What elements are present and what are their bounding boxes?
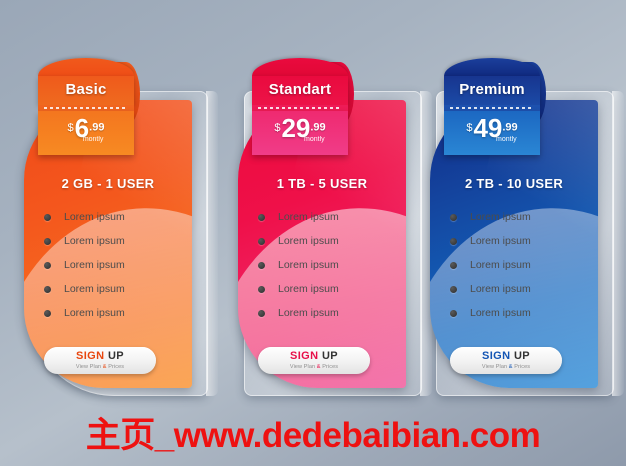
- price-ribbon: Standart $29.99 montly: [252, 58, 348, 155]
- ribbon-name-band: Premium: [444, 76, 540, 105]
- feature-label: Lorem ipsum: [470, 283, 531, 295]
- feature-label: Lorem ipsum: [470, 211, 531, 223]
- pricing-table-stage: 2 GB - 1 USER Lorem ipsum Lorem ipsum Lo…: [0, 0, 626, 466]
- sign-up-button[interactable]: SIGN UP View Plan & Prices: [258, 347, 370, 374]
- price-cents: .99: [89, 122, 104, 134]
- feature-list: Lorem ipsum Lorem ipsum Lorem ipsum Lore…: [450, 205, 598, 325]
- sub-prefix: View Plan: [290, 364, 317, 370]
- sign-up-subtext: View Plan & Prices: [76, 364, 124, 370]
- ribbon-price-band: $6.99 montly: [38, 111, 134, 155]
- watermark-text: 主页_www.dedebaibian.com: [0, 407, 626, 458]
- sign-up-button[interactable]: SIGN UP View Plan & Prices: [44, 347, 156, 374]
- price-period: montly: [274, 136, 324, 143]
- sub-suffix: Prices: [107, 364, 125, 370]
- sub-prefix: View Plan: [76, 364, 103, 370]
- sign-up-label: SIGN UP: [482, 351, 530, 363]
- plan-name: Standart: [269, 81, 331, 98]
- feature-label: Lorem ipsum: [64, 283, 125, 295]
- sign-up-button[interactable]: SIGN UP View Plan & Prices: [450, 347, 562, 374]
- feature-list: Lorem ipsum Lorem ipsum Lorem ipsum Lore…: [258, 205, 406, 325]
- ribbon-name-band: Basic: [38, 76, 134, 105]
- feature-label: Lorem ipsum: [278, 235, 339, 247]
- bullet-dot-icon: [450, 310, 457, 317]
- sub-suffix: Prices: [321, 364, 339, 370]
- bullet-dot-icon: [258, 286, 265, 293]
- pricing-plan-premium: 2 TB - 10 USER Lorem ipsum Lorem ipsum L…: [430, 58, 620, 398]
- bullet-dot-icon: [450, 238, 457, 245]
- feature-label: Lorem ipsum: [278, 283, 339, 295]
- feature-label: Lorem ipsum: [64, 259, 125, 271]
- ribbon-name-band: Standart: [252, 76, 348, 105]
- list-item: Lorem ipsum: [44, 277, 192, 301]
- price-row: $6.99 montly: [68, 115, 105, 143]
- bullet-dot-icon: [258, 214, 265, 221]
- bullet-dot-icon: [44, 214, 51, 221]
- bullet-dot-icon: [44, 238, 51, 245]
- feature-list: Lorem ipsum Lorem ipsum Lorem ipsum Lore…: [44, 205, 192, 325]
- plan-quota: 2 TB - 10 USER: [430, 176, 598, 191]
- price-row: $29.99 montly: [274, 115, 325, 143]
- list-item: Lorem ipsum: [44, 301, 192, 325]
- list-item: Lorem ipsum: [44, 253, 192, 277]
- sign-up-accent-text: SIGN: [482, 350, 511, 362]
- sign-up-rest-text: UP: [322, 350, 338, 362]
- price-currency: $: [274, 122, 280, 134]
- list-item: Lorem ipsum: [44, 229, 192, 253]
- feature-label: Lorem ipsum: [278, 307, 339, 319]
- list-item: Lorem ipsum: [258, 301, 406, 325]
- price-cents: .99: [502, 122, 517, 134]
- list-item: Lorem ipsum: [44, 205, 192, 229]
- ribbon-price-band: $29.99 montly: [252, 111, 348, 155]
- list-item: Lorem ipsum: [258, 277, 406, 301]
- list-item: Lorem ipsum: [258, 253, 406, 277]
- glass-edge: [612, 91, 624, 396]
- bullet-dot-icon: [258, 238, 265, 245]
- price-currency: $: [466, 122, 472, 134]
- ribbon-price-band: $49.99 montly: [444, 111, 540, 155]
- list-item: Lorem ipsum: [258, 229, 406, 253]
- sign-up-label: SIGN UP: [76, 351, 124, 363]
- bullet-dot-icon: [258, 262, 265, 269]
- plan-name: Basic: [65, 81, 106, 98]
- list-item: Lorem ipsum: [450, 229, 598, 253]
- sign-up-subtext: View Plan & Prices: [482, 364, 530, 370]
- sign-up-accent-text: SIGN: [76, 350, 105, 362]
- glass-edge: [206, 91, 218, 396]
- price-currency: $: [68, 122, 74, 134]
- pricing-plan-basic: 2 GB - 1 USER Lorem ipsum Lorem ipsum Lo…: [24, 58, 214, 398]
- bullet-dot-icon: [44, 262, 51, 269]
- plan-quota: 2 GB - 1 USER: [24, 176, 192, 191]
- price-period: montly: [68, 136, 104, 143]
- sub-suffix: Prices: [513, 364, 531, 370]
- feature-label: Lorem ipsum: [278, 211, 339, 223]
- feature-label: Lorem ipsum: [64, 235, 125, 247]
- sub-prefix: View Plan: [482, 364, 509, 370]
- price-cents: .99: [310, 122, 325, 134]
- list-item: Lorem ipsum: [450, 253, 598, 277]
- sign-up-subtext: View Plan & Prices: [290, 364, 338, 370]
- bullet-dot-icon: [450, 262, 457, 269]
- price-row: $49.99 montly: [466, 115, 517, 143]
- bullet-dot-icon: [258, 310, 265, 317]
- pricing-plan-standart: 1 TB - 5 USER Lorem ipsum Lorem ipsum Lo…: [238, 58, 428, 398]
- feature-label: Lorem ipsum: [470, 307, 531, 319]
- bullet-dot-icon: [44, 310, 51, 317]
- bullet-dot-icon: [44, 286, 51, 293]
- feature-label: Lorem ipsum: [470, 235, 531, 247]
- sign-up-rest-text: UP: [514, 350, 530, 362]
- ribbon-curl-top: [444, 58, 540, 76]
- price-period: montly: [466, 136, 516, 143]
- bullet-dot-icon: [450, 214, 457, 221]
- ribbon-curl-top: [252, 58, 348, 76]
- feature-label: Lorem ipsum: [64, 211, 125, 223]
- feature-label: Lorem ipsum: [470, 259, 531, 271]
- feature-label: Lorem ipsum: [278, 259, 339, 271]
- plan-name: Premium: [459, 81, 525, 98]
- list-item: Lorem ipsum: [450, 301, 598, 325]
- price-ribbon: Premium $49.99 montly: [444, 58, 540, 155]
- list-item: Lorem ipsum: [258, 205, 406, 229]
- ribbon-curl-top: [38, 58, 134, 76]
- sign-up-rest-text: UP: [108, 350, 124, 362]
- sign-up-accent-text: SIGN: [290, 350, 319, 362]
- bullet-dot-icon: [450, 286, 457, 293]
- feature-label: Lorem ipsum: [64, 307, 125, 319]
- list-item: Lorem ipsum: [450, 205, 598, 229]
- plan-quota: 1 TB - 5 USER: [238, 176, 406, 191]
- sign-up-label: SIGN UP: [290, 351, 338, 363]
- price-ribbon: Basic $6.99 montly: [38, 58, 134, 155]
- list-item: Lorem ipsum: [450, 277, 598, 301]
